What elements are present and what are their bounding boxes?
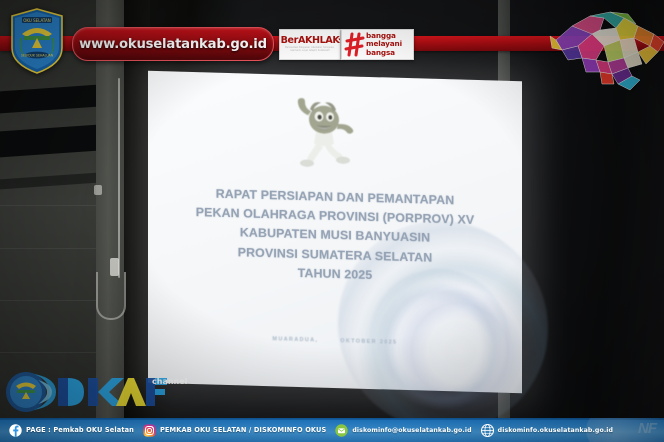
footer-item-website[interactable]: diskominfo.okuselatankab.go.id [481, 424, 613, 437]
cable-loop [96, 272, 126, 320]
dkaf-channel-watermark: channel [4, 366, 190, 416]
projection-screen: RAPAT PERSIAPAN DAN PEMANTAPAN PEKAN OLA… [148, 71, 522, 393]
svg-text:channel: channel [152, 377, 188, 386]
slide-place: MUARADUA, [273, 336, 319, 343]
footer-bar: NF PAGE : Pemkab OKU Selatan [0, 418, 664, 442]
slide-title: RAPAT PERSIAPAN DAN PEMANTAPAN PEKAN OLA… [148, 183, 522, 289]
porprov-running-mascot [286, 97, 368, 177]
instagram-icon [143, 424, 156, 437]
facebook-icon [9, 424, 22, 437]
footer-item-facebook[interactable]: PAGE : Pemkab OKU Selatan [9, 424, 134, 437]
footer-facebook-label: PAGE : Pemkab OKU Selatan [26, 426, 134, 434]
hanging-cable [118, 78, 120, 278]
footer-instagram-label: PEMKAB OKU SELATAN / DISKOMINFO OKUS [160, 426, 326, 434]
footer-email-label: diskominfo@okuselatankab.go.id [352, 427, 471, 434]
website-icon [481, 424, 494, 437]
footer-item-email[interactable]: diskominfo@okuselatankab.go.id [335, 424, 471, 437]
footer-nf-watermark: NF [638, 420, 656, 437]
footer-website-label: diskominfo.okuselatankab.go.id [498, 427, 613, 434]
email-icon [335, 424, 348, 437]
footer-item-instagram[interactable]: PEMKAB OKU SELATAN / DISKOMINFO OKUS [143, 424, 326, 437]
screenshot-canvas: RAPAT PERSIAPAN DAN PEMANTAPAN PEKAN OLA… [0, 0, 664, 442]
cable-clip [94, 185, 102, 195]
